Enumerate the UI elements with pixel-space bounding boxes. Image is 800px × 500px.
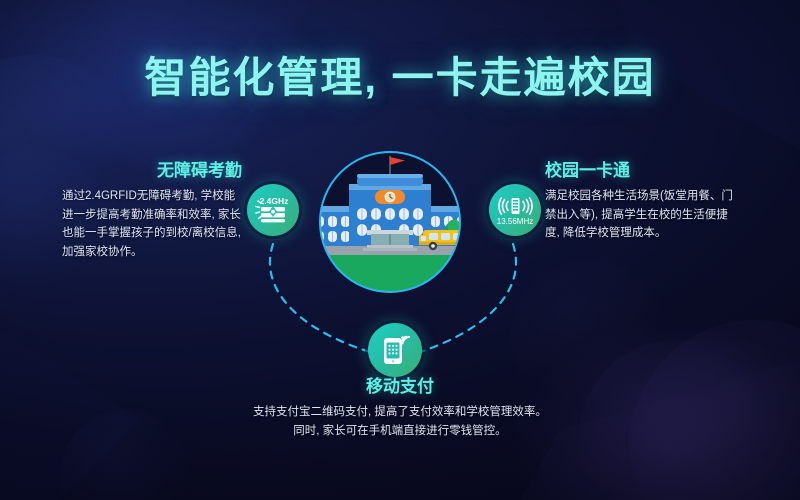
feature-attendance-body: 通过2.4GRFID无障碍考勤, 学校能进一步提高考勤准确率和效率, 家长也能一…	[62, 187, 244, 262]
feature-attendance: 无障碍考勤 通过2.4GRFID无障碍考勤, 学校能进一步提高考勤准确率和效率,…	[62, 156, 244, 262]
feature-campus-card-heading: 校园一卡通	[545, 156, 733, 181]
mobile-nfc-icon	[375, 330, 415, 370]
badge-mobile-pay[interactable]	[368, 323, 422, 377]
svg-text:13.56MHz: 13.56MHz	[497, 217, 533, 226]
svg-text:2.4GHz: 2.4GHz	[260, 196, 289, 206]
feature-campus-card: 校园一卡通 满足校园各种生活场景(饭堂用餐、门禁出入等), 提高学生在校的生活便…	[545, 156, 733, 243]
page-title: 智能化管理, 一卡走遍校园	[0, 44, 800, 105]
rfid-chip-icon: 2.4GHz	[252, 189, 294, 231]
nfc-wave-icon: 13.56MHz	[493, 188, 537, 232]
feature-campus-card-body: 满足校园各种生活场景(饭堂用餐、门禁出入等), 提高学生在校的生活便捷度, 降低…	[545, 187, 733, 243]
feature-mobile-pay: 移动支付 支持支付宝二维码支付, 提高了支付效率和学校管理效率。同时, 家长可在…	[250, 372, 550, 440]
poster-canvas: 智能化管理, 一卡走遍校园	[0, 0, 800, 500]
feature-mobile-pay-body: 支持支付宝二维码支付, 提高了支付效率和学校管理效率。同时, 家长可在手机端直接…	[250, 403, 550, 440]
feature-attendance-heading: 无障碍考勤	[62, 156, 244, 181]
feature-mobile-pay-heading: 移动支付	[250, 372, 550, 397]
school-illustration	[281, 148, 499, 298]
badge-campus-card[interactable]: 13.56MHz	[489, 184, 541, 236]
badge-attendance[interactable]: 2.4GHz	[247, 184, 299, 236]
